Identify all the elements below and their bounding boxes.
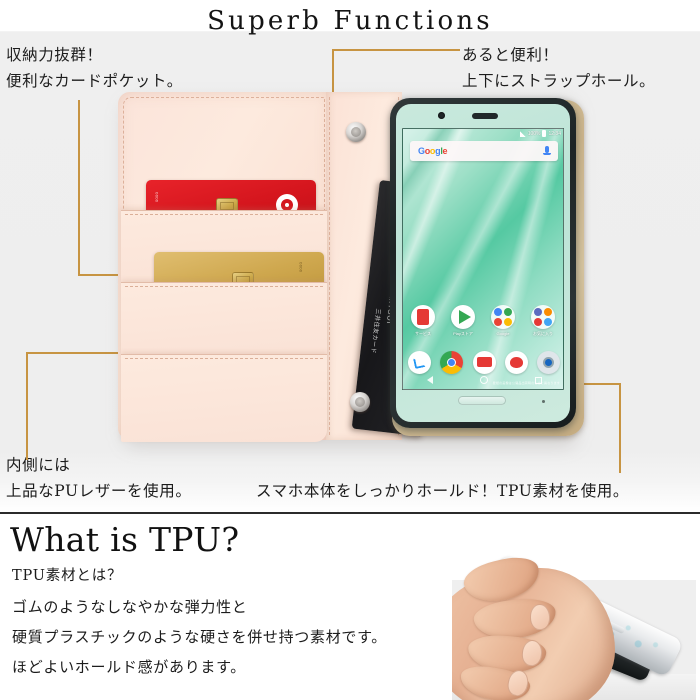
home-screen-dock	[403, 351, 564, 374]
app-label: お気に入り	[533, 331, 553, 337]
app-icon-tools-folder[interactable]: お気に入り	[523, 305, 563, 337]
tpu-explainer-section: What is TPU? TPU素材とは？ ゴムのようなしなやかな弾力性と 硬質…	[0, 514, 700, 700]
phone-top-bezel	[396, 104, 570, 126]
tpu-flex-photo	[452, 552, 696, 700]
features-section: Superb Functions 収納力抜群！ 便利なカードポケット。 あると便…	[0, 0, 700, 512]
dock-icon-chrome[interactable]	[435, 351, 467, 374]
dock-icon-messages[interactable]	[468, 351, 500, 374]
tpu-title: What is TPU?	[10, 520, 239, 559]
nav-back-icon[interactable]	[427, 376, 433, 384]
app-icon-google-folder[interactable]: Google	[483, 305, 523, 337]
status-bar: 100% 12:34	[520, 130, 561, 137]
fingernail-2	[530, 604, 551, 631]
camera-icon	[537, 351, 560, 374]
red-app-icon	[411, 305, 435, 329]
play-store-icon	[451, 305, 475, 329]
front-camera-icon	[438, 112, 445, 119]
dock-icon-camera[interactable]	[533, 351, 564, 374]
google-folder-icon	[491, 305, 515, 329]
tpu-body-line2: 硬質プラスチックのような硬さを併せ持つ素材です。	[12, 622, 387, 652]
app-label: Google	[497, 331, 510, 336]
nav-recents-icon[interactable]	[535, 377, 542, 384]
strap-hole-eyelet-bottom	[350, 392, 370, 412]
annotation-strap-hole-line1: あると便利！	[462, 42, 655, 68]
annotation-card-pocket: 収納力抜群！ 便利なカードポケット。	[6, 42, 183, 94]
annotation-card-pocket-line2: 便利なカードポケット。	[6, 68, 183, 94]
product-photo-wallet-case: 0000 0000 Business Card MITSUI 三井住友カード	[118, 92, 578, 444]
tpu-body-text: ゴムのようなしなやかな弾力性と 硬質プラスチックのような硬さを併せ持つ素材です。…	[12, 592, 387, 682]
heart-app-icon	[505, 351, 528, 374]
annotation-strap-hole-line2: 上下にストラップホール。	[462, 68, 655, 94]
annotation-card-pocket-line1: 収納力抜群！	[6, 42, 183, 68]
dock-icon-heart-app[interactable]	[500, 351, 532, 374]
app-icon-play-store[interactable]: Playストア	[443, 305, 483, 337]
nav-home-icon[interactable]	[480, 376, 488, 384]
tools-folder-icon	[531, 305, 555, 329]
battery-percent-label: 100%	[528, 131, 541, 137]
app-label: サービス	[415, 331, 431, 337]
annotation-strap-hole: あると便利！ 上下にストラップホール。	[462, 42, 655, 94]
annotation-tpu-hold: スマホ本体をしっかりホールド！TPU素材を使用。	[256, 478, 629, 504]
microphone-icon[interactable]	[545, 146, 549, 153]
annotation-pu-leather-line2: 上品なPUレザーを使用。	[6, 478, 191, 504]
app-icon-service[interactable]: サービス	[403, 305, 443, 337]
page-title: Superb Functions	[0, 6, 700, 36]
phone-screen[interactable]: 100% 12:34 Google	[402, 128, 564, 390]
phone-icon	[408, 351, 431, 374]
messages-icon	[473, 351, 496, 374]
earpiece-icon	[472, 113, 498, 119]
infographic-page: Superb Functions 収納力抜群！ 便利なカードポケット。 あると便…	[0, 0, 700, 700]
google-logo-icon: Google	[418, 146, 447, 156]
annotation-tpu-hold-line1: スマホ本体をしっかりホールド！TPU素材を使用。	[256, 478, 629, 504]
google-search-bar[interactable]: Google	[410, 141, 558, 161]
clock-label: 12:34	[548, 131, 561, 137]
tpu-body-line3: ほどよいホールド感があります。	[12, 652, 387, 682]
card-pocket-3	[121, 354, 327, 442]
card-pocket-2	[121, 282, 327, 354]
business-card-sub: 三井住友カード	[369, 308, 383, 354]
dock-icon-phone[interactable]	[403, 351, 435, 374]
signal-icon	[520, 131, 526, 137]
home-screen-app-row: サービス Playストア	[403, 305, 564, 337]
tpu-body-line1: ゴムのようなしなやかな弾力性と	[12, 592, 387, 622]
phone-in-case: 100% 12:34 Google	[390, 98, 586, 438]
phone-body: 100% 12:34 Google	[396, 104, 570, 422]
tpu-subtitle: TPU素材とは？	[12, 564, 122, 585]
card-number-text: 0000	[298, 262, 303, 272]
android-nav-bar	[403, 372, 564, 388]
battery-icon	[542, 130, 546, 137]
sensor-dot-icon	[542, 400, 545, 403]
chrome-icon	[440, 351, 463, 374]
app-label: Playストア	[453, 331, 473, 337]
strap-hole-eyelet-top	[346, 122, 366, 142]
home-button[interactable]	[458, 396, 506, 405]
card-number-text: 0000	[154, 192, 159, 202]
